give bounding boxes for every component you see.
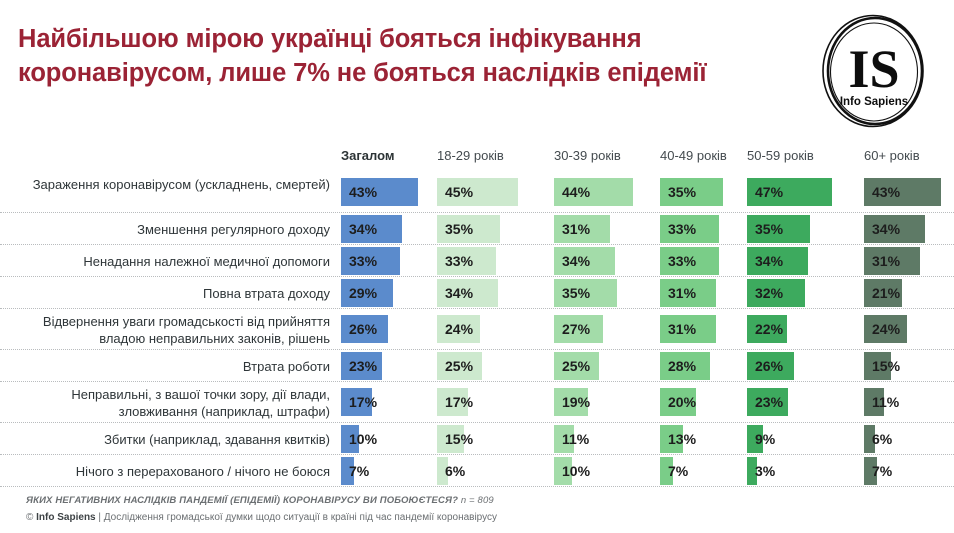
chart-row: Відвернення уваги громадськості від прий… bbox=[0, 309, 954, 350]
footer: ЯКИХ НЕГАТИВНИХ НАСЛІДКІВ ПАНДЕМІЇ (ЕПІД… bbox=[0, 495, 954, 533]
bar-value-label: 45% bbox=[445, 184, 473, 200]
bar-value-label: 35% bbox=[755, 221, 783, 237]
bar-cell[interactable]: 22% bbox=[747, 309, 787, 349]
bar-value-label: 15% bbox=[445, 431, 473, 447]
bar-cell[interactable]: 27% bbox=[554, 309, 603, 349]
bar-value-label: 17% bbox=[349, 394, 377, 410]
footer-copyright-symbol: © bbox=[26, 512, 36, 523]
bar-value-label: 9% bbox=[755, 431, 775, 447]
column-header-2: 18-29 років bbox=[437, 148, 504, 163]
bar-cell[interactable]: 19% bbox=[554, 382, 588, 422]
column-header-5: 50-59 років bbox=[747, 148, 814, 163]
bar-value-label: 24% bbox=[445, 321, 473, 337]
bar-cell[interactable]: 35% bbox=[437, 213, 500, 244]
bar-value-label: 6% bbox=[872, 431, 892, 447]
bar-value-label: 33% bbox=[668, 253, 696, 269]
bar-cell[interactable]: 34% bbox=[864, 213, 925, 244]
footer-brand: Info Sapiens bbox=[36, 512, 95, 523]
row-bars: 26%24%27%31%22%24% bbox=[0, 309, 954, 349]
bar-value-label: 7% bbox=[872, 463, 892, 479]
bar-value-label: 19% bbox=[562, 394, 590, 410]
bar-cell[interactable]: 10% bbox=[341, 423, 359, 454]
bar-value-label: 35% bbox=[562, 285, 590, 301]
bar-value-label: 10% bbox=[349, 431, 377, 447]
chart-row: Зменшення регулярного доходу34%35%31%33%… bbox=[0, 213, 954, 245]
bar-value-label: 35% bbox=[445, 221, 473, 237]
bar-value-label: 34% bbox=[872, 221, 900, 237]
logo-name: Info Sapiens bbox=[840, 96, 908, 108]
bar-cell[interactable]: 9% bbox=[747, 423, 763, 454]
bar-value-label: 21% bbox=[872, 285, 900, 301]
bar-value-label: 31% bbox=[872, 253, 900, 269]
bar-value-label: 7% bbox=[668, 463, 688, 479]
row-bars: 34%35%31%33%35%34% bbox=[0, 213, 954, 244]
footer-copyright: © Info Sapiens | Дослідження громадської… bbox=[26, 512, 497, 523]
bar-cell[interactable]: 15% bbox=[437, 423, 464, 454]
bar-cell[interactable]: 31% bbox=[864, 245, 920, 276]
bar-cell[interactable]: 13% bbox=[660, 423, 683, 454]
footer-sample-size: n = 809 bbox=[461, 495, 494, 506]
bar-cell[interactable]: 17% bbox=[341, 382, 372, 422]
bar-cell[interactable]: 34% bbox=[554, 245, 615, 276]
bar-value-label: 32% bbox=[755, 285, 783, 301]
chart-row: Збитки (наприклад, здавання квитків)10%1… bbox=[0, 423, 954, 455]
row-bars: 43%45%44%35%47%43% bbox=[0, 172, 954, 212]
bar-cell[interactable]: 34% bbox=[437, 277, 498, 308]
logo-icon: IS Info Sapiens bbox=[818, 12, 930, 130]
bar-value-label: 10% bbox=[562, 463, 590, 479]
bar-cell[interactable]: 43% bbox=[341, 172, 418, 212]
column-header-3: 30-39 років bbox=[554, 148, 621, 163]
bar-value-label: 26% bbox=[349, 321, 377, 337]
footer-question: ЯКИХ НЕГАТИВНИХ НАСЛІДКІВ ПАНДЕМІЇ (ЕПІД… bbox=[26, 495, 494, 506]
row-bars: 7%6%10%7%3%7% bbox=[0, 455, 954, 486]
row-bars: 29%34%35%31%32%21% bbox=[0, 277, 954, 308]
bar-cell[interactable]: 24% bbox=[437, 309, 480, 349]
bar-value-label: 15% bbox=[872, 358, 900, 374]
column-header-6: 60+ років bbox=[864, 148, 920, 163]
chart-panel: Загалом18-29 років30-39 років40-49 років… bbox=[0, 140, 954, 495]
bar-value-label: 34% bbox=[562, 253, 590, 269]
bar-cell[interactable]: 33% bbox=[660, 245, 719, 276]
bar-value-label: 3% bbox=[755, 463, 775, 479]
footer-question-text: ЯКИХ НЕГАТИВНИХ НАСЛІДКІВ ПАНДЕМІЇ (ЕПІД… bbox=[26, 495, 458, 506]
row-bars: 33%33%34%33%34%31% bbox=[0, 245, 954, 276]
bar-value-label: 47% bbox=[755, 184, 783, 200]
bar-cell[interactable]: 33% bbox=[660, 213, 719, 244]
bar-cell[interactable]: 15% bbox=[864, 350, 891, 381]
chart-row: Неправильні, з вашої точки зору, дії вла… bbox=[0, 382, 954, 423]
bar-value-label: 11% bbox=[872, 394, 899, 410]
bar-value-label: 33% bbox=[349, 253, 377, 269]
bar-cell[interactable]: 7% bbox=[864, 455, 877, 486]
bar-cell[interactable]: 20% bbox=[660, 382, 696, 422]
bar-value-label: 13% bbox=[668, 431, 696, 447]
bar-cell[interactable]: 10% bbox=[554, 455, 572, 486]
logo-monogram: IS bbox=[848, 39, 899, 99]
bar-cell[interactable]: 28% bbox=[660, 350, 710, 381]
bar-value-label: 26% bbox=[755, 358, 783, 374]
bar-cell[interactable]: 26% bbox=[341, 309, 388, 349]
bar-cell[interactable]: 25% bbox=[437, 350, 482, 381]
bar-cell[interactable]: 7% bbox=[660, 455, 673, 486]
bar-value-label: 11% bbox=[562, 431, 589, 447]
bar-value-label: 20% bbox=[668, 394, 696, 410]
bar-cell[interactable]: 35% bbox=[747, 213, 810, 244]
footer-source: | Дослідження громадської думки щодо сит… bbox=[98, 512, 497, 523]
bar-value-label: 17% bbox=[445, 394, 473, 410]
column-header-1: Загалом bbox=[341, 148, 395, 163]
bar-value-label: 25% bbox=[562, 358, 590, 374]
bar-value-label: 24% bbox=[872, 321, 900, 337]
header: Найбільшою мірою українці бояться інфіку… bbox=[0, 0, 954, 140]
bar-cell[interactable]: 43% bbox=[864, 172, 941, 212]
bar-value-label: 28% bbox=[668, 358, 696, 374]
bar-cell[interactable]: 33% bbox=[341, 245, 400, 276]
bar-value-label: 29% bbox=[349, 285, 377, 301]
bar-value-label: 31% bbox=[668, 285, 696, 301]
bar-value-label: 33% bbox=[668, 221, 696, 237]
row-bars: 23%25%25%28%26%15% bbox=[0, 350, 954, 381]
bar-cell[interactable]: 35% bbox=[660, 172, 723, 212]
chart-row: Втрата роботи23%25%25%28%26%15% bbox=[0, 350, 954, 382]
bar-cell[interactable]: 34% bbox=[747, 245, 808, 276]
bar-cell[interactable]: 3% bbox=[747, 455, 757, 486]
chart-rows: Зараження коронавірусом (ускладнень, сме… bbox=[0, 172, 954, 487]
bar-value-label: 34% bbox=[445, 285, 473, 301]
bar-cell[interactable]: 25% bbox=[554, 350, 599, 381]
chart-row: Ненадання належної медичної допомоги33%3… bbox=[0, 245, 954, 277]
bar-value-label: 34% bbox=[349, 221, 377, 237]
bar-cell[interactable]: 31% bbox=[554, 213, 610, 244]
bar-value-label: 43% bbox=[349, 184, 377, 200]
bar-cell[interactable]: 11% bbox=[554, 423, 574, 454]
bar-cell[interactable]: 11% bbox=[864, 382, 884, 422]
bar-cell[interactable]: 23% bbox=[747, 382, 788, 422]
chart-row: Нічого з перерахованого / нічого не боюс… bbox=[0, 455, 954, 487]
bar-cell[interactable]: 32% bbox=[747, 277, 805, 308]
bar-value-label: 33% bbox=[445, 253, 473, 269]
bar-value-label: 34% bbox=[755, 253, 783, 269]
bar-value-label: 7% bbox=[349, 463, 369, 479]
page-title: Найбільшою мірою українці бояться інфіку… bbox=[18, 22, 778, 90]
bar-cell[interactable]: 47% bbox=[747, 172, 832, 212]
bar-cell[interactable]: 6% bbox=[864, 423, 875, 454]
bar-cell[interactable]: 26% bbox=[747, 350, 794, 381]
bar-value-label: 23% bbox=[349, 358, 377, 374]
bar-cell[interactable]: 45% bbox=[437, 172, 518, 212]
info-sapiens-logo: IS Info Sapiens bbox=[818, 12, 930, 130]
chart-row: Повна втрата доходу29%34%35%31%32%21% bbox=[0, 277, 954, 309]
bar-cell[interactable]: 7% bbox=[341, 455, 354, 486]
bar-cell[interactable]: 44% bbox=[554, 172, 633, 212]
bar-value-label: 22% bbox=[755, 321, 783, 337]
bar-value-label: 31% bbox=[668, 321, 696, 337]
bar-value-label: 44% bbox=[562, 184, 590, 200]
bar-value-label: 27% bbox=[562, 321, 590, 337]
row-bars: 17%17%19%20%23%11% bbox=[0, 382, 954, 422]
bar-value-label: 43% bbox=[872, 184, 900, 200]
bar-value-label: 6% bbox=[445, 463, 465, 479]
bar-cell[interactable]: 34% bbox=[341, 213, 402, 244]
bar-cell[interactable]: 21% bbox=[864, 277, 902, 308]
bar-value-label: 25% bbox=[445, 358, 473, 374]
bar-cell[interactable]: 35% bbox=[554, 277, 617, 308]
chart-row: Зараження коронавірусом (ускладнень, сме… bbox=[0, 172, 954, 213]
bar-cell[interactable]: 29% bbox=[341, 277, 393, 308]
column-headers: Загалом18-29 років30-39 років40-49 років… bbox=[0, 148, 954, 174]
bar-cell[interactable]: 33% bbox=[437, 245, 496, 276]
bar-value-label: 31% bbox=[562, 221, 590, 237]
bar-cell[interactable]: 24% bbox=[864, 309, 907, 349]
column-header-4: 40-49 років bbox=[660, 148, 727, 163]
bar-cell[interactable]: 31% bbox=[660, 277, 716, 308]
row-bars: 10%15%11%13%9%6% bbox=[0, 423, 954, 454]
bar-cell[interactable]: 23% bbox=[341, 350, 382, 381]
bar-cell[interactable]: 17% bbox=[437, 382, 468, 422]
bar-cell[interactable]: 31% bbox=[660, 309, 716, 349]
bar-value-label: 35% bbox=[668, 184, 696, 200]
bar-value-label: 23% bbox=[755, 394, 783, 410]
bar-cell[interactable]: 6% bbox=[437, 455, 448, 486]
